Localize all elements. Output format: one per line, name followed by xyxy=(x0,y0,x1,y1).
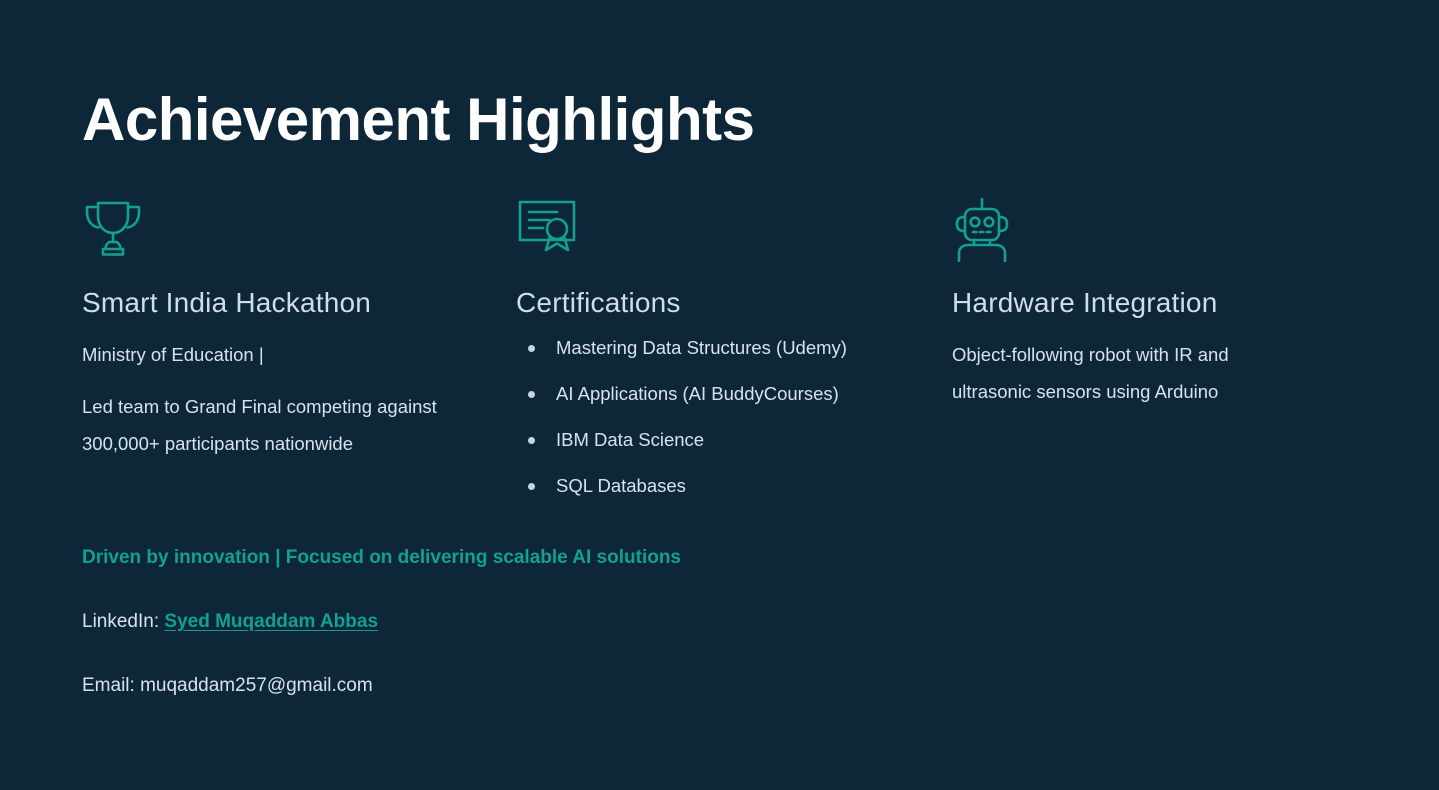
highlight-column-hackathon: Smart India Hackathon Ministry of Educat… xyxy=(82,198,516,462)
column-heading-hackathon: Smart India Hackathon xyxy=(82,286,516,320)
column-body-hackathon: Ministry of Education | Led team to Gran… xyxy=(82,336,452,462)
page-title: Achievement Highlights xyxy=(82,84,754,156)
highlight-columns: Smart India Hackathon Ministry of Educat… xyxy=(82,198,1382,518)
list-item: Mastering Data Structures (Udemy) xyxy=(516,334,952,362)
column-body-hardware: Object-following robot with IR and ultra… xyxy=(952,336,1312,410)
hackathon-org: Ministry of Education | xyxy=(82,336,452,373)
footer: Driven by innovation | Focused on delive… xyxy=(82,544,982,700)
email-line: Email: muqaddam257@gmail.com xyxy=(82,672,982,700)
tagline: Driven by innovation | Focused on delive… xyxy=(82,544,982,572)
column-heading-hardware: Hardware Integration xyxy=(952,286,1352,320)
robot-icon xyxy=(952,198,1352,262)
column-heading-certifications: Certifications xyxy=(516,286,952,320)
highlight-column-certifications: Certifications Mastering Data Structures… xyxy=(516,198,952,518)
hackathon-detail: Led team to Grand Final competing agains… xyxy=(82,388,452,462)
hardware-detail: Object-following robot with IR and ultra… xyxy=(952,336,1312,410)
linkedin-label: LinkedIn: xyxy=(82,611,164,632)
highlight-column-hardware: Hardware Integration Object-following ro… xyxy=(952,198,1352,410)
certificate-icon xyxy=(516,198,952,262)
slide-root: Achievement Highlights Smart India Hacka… xyxy=(0,0,1439,790)
list-item: AI Applications (AI BuddyCourses) xyxy=(516,380,952,408)
trophy-icon xyxy=(82,198,516,262)
list-item: IBM Data Science xyxy=(516,426,952,454)
certifications-list: Mastering Data Structures (Udemy) AI App… xyxy=(516,334,952,500)
linkedin-profile-link[interactable]: Syed Muqaddam Abbas xyxy=(164,611,378,632)
linkedin-line: LinkedIn: Syed Muqaddam Abbas xyxy=(82,608,982,636)
list-item: SQL Databases xyxy=(516,472,952,500)
